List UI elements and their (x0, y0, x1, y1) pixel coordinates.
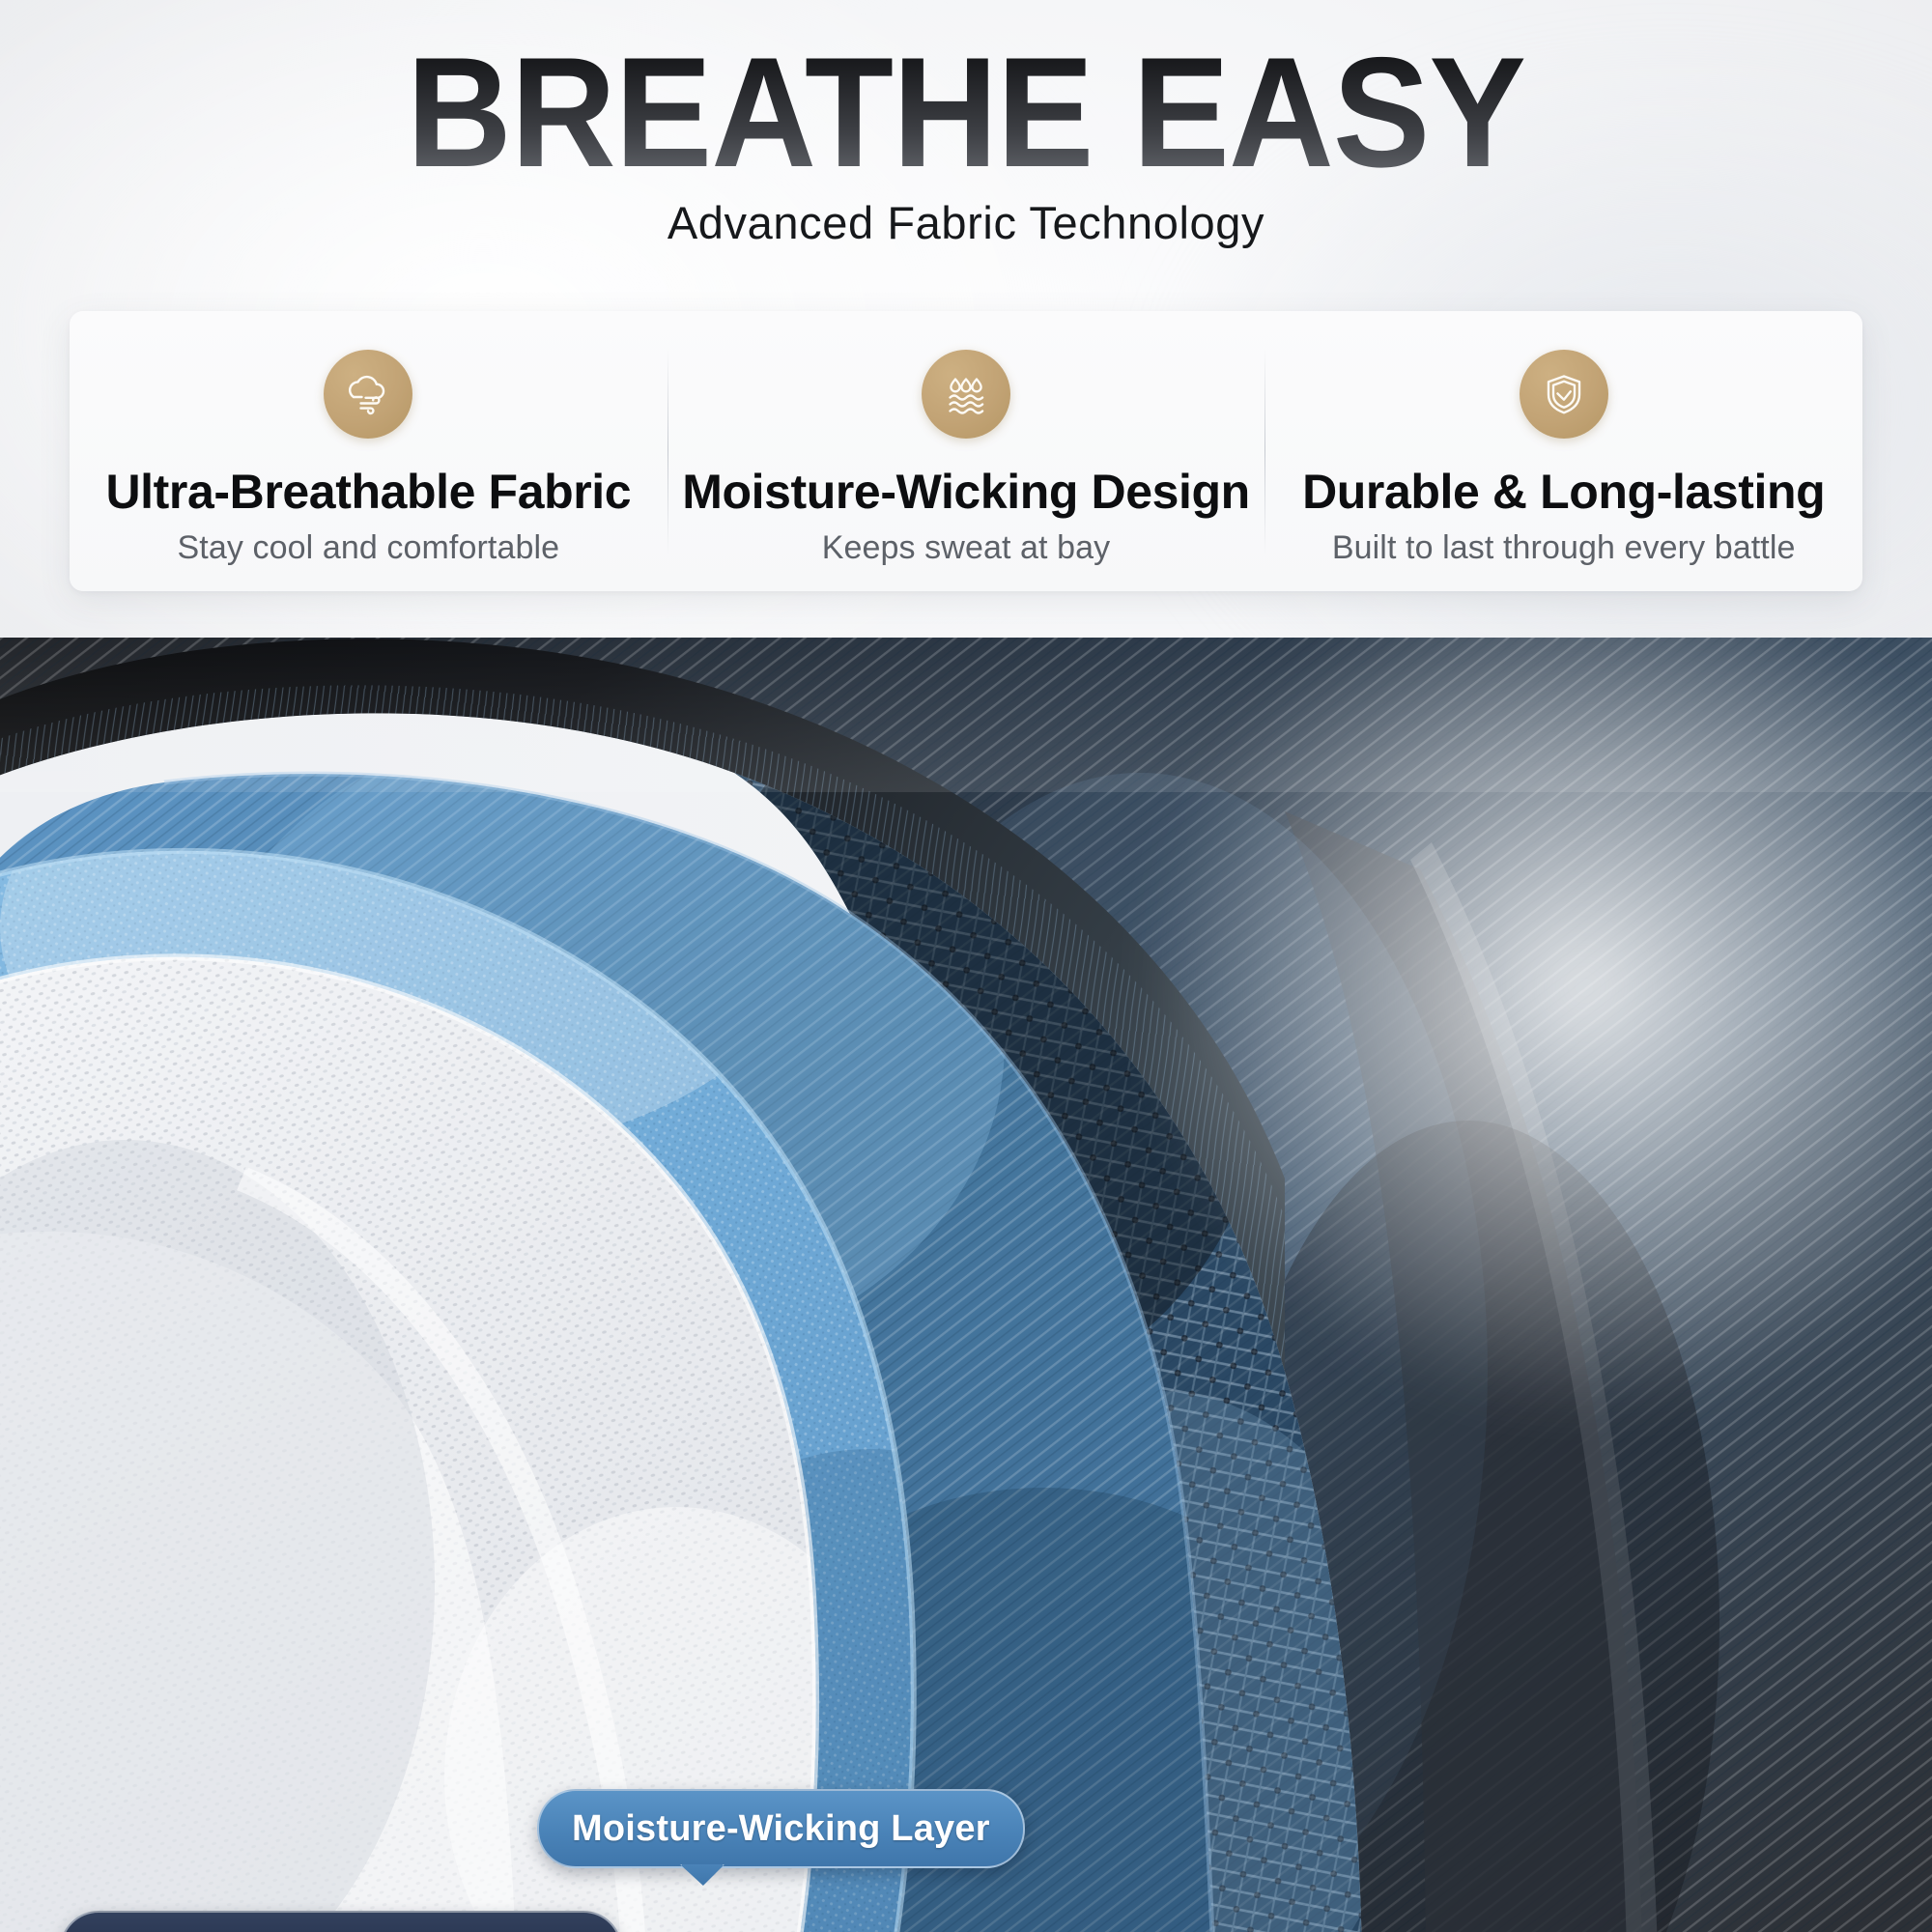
callout-perforated-ventilation-layer[interactable]: Perforated Ventilation Layer (60, 1911, 622, 1932)
callout-label: Moisture-Wicking Layer (572, 1808, 990, 1850)
feature-item-breathable: Ultra-Breathable Fabric Stay cool and co… (70, 311, 668, 591)
feature-title: Durable & Long-lasting (1302, 464, 1825, 520)
page-subtitle: Advanced Fabric Technology (0, 196, 1932, 249)
feature-card: Ultra-Breathable Fabric Stay cool and co… (70, 311, 1862, 591)
feature-subtitle: Keeps sweat at bay (822, 529, 1111, 567)
feature-title: Moisture-Wicking Design (682, 464, 1250, 520)
header: BREATHE EASY Advanced Fabric Technology (0, 0, 1932, 249)
callout-moisture-wicking-layer[interactable]: Moisture-Wicking Layer (537, 1789, 1025, 1868)
feature-item-durable: Durable & Long-lasting Built to last thr… (1264, 311, 1862, 591)
infographic-page: BREATHE EASY Advanced Fabric Technology … (0, 0, 1932, 1932)
water-droplets-waves-icon (922, 350, 1010, 439)
feature-subtitle: Built to last through every battle (1332, 529, 1796, 567)
shield-check-icon (1520, 350, 1608, 439)
feature-item-moisture-wicking: Moisture-Wicking Design Keeps sweat at b… (668, 311, 1265, 591)
page-title: BREATHE EASY (68, 0, 1864, 190)
feature-title: Ultra-Breathable Fabric (105, 464, 631, 520)
airflow-cloud-icon (324, 350, 412, 439)
product-cross-section-image: Perforated Ventilation Layer Moisture-Wi… (0, 638, 1932, 1932)
feature-subtitle: Stay cool and comfortable (178, 529, 560, 567)
hero-highlight (1121, 638, 1932, 1440)
